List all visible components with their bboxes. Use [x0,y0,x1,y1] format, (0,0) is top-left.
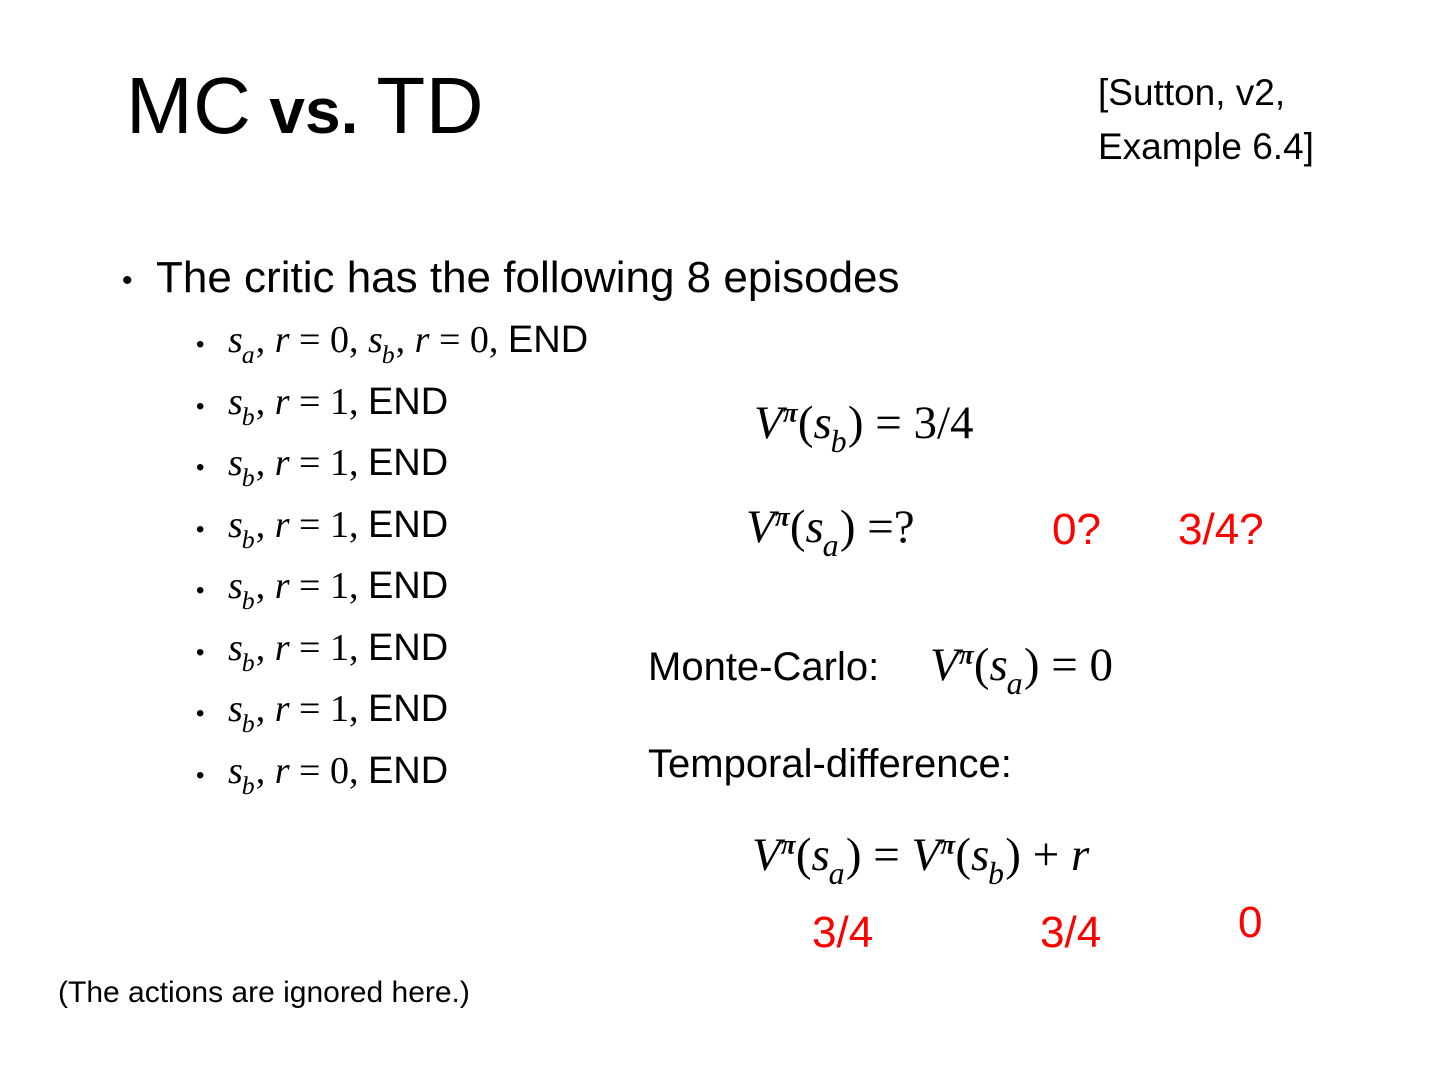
episode-text: sb, r = 1, END [228,441,448,491]
mc-arg-subscript: a [1007,666,1023,701]
episode-state: s [228,688,243,730]
td-rhs-superscript-pi: π [940,829,955,859]
episode-bullet-dot-icon: • [196,764,228,788]
episode-reward-value: 1 [330,381,349,423]
episode-state: s [228,565,243,607]
eq-vb-superscript-pi: π [783,397,798,427]
episode-terminal-label: END [368,504,448,546]
mc-relation: = [1051,639,1078,691]
episode-text: sb, r = 1, END [228,564,448,614]
episode-state-subscript: b [242,709,255,738]
episode-bullet-dot-icon: • [196,641,228,665]
episode-state-subscript: b [242,525,255,554]
eq-vb-value: 3/4 [913,397,973,449]
title-part-td: TD [376,61,484,150]
episode-item: •sb, r = 0, END [196,749,588,811]
episode-text: sb, r = 1, END [228,380,448,430]
mc-arg: s [990,639,1008,691]
episode-state: s [368,319,383,361]
episode-state-subscript: b [242,586,255,615]
episode-text: sb, r = 1, END [228,626,448,676]
td-lhs-arg-subscript: a [829,856,845,891]
eq-va-arg-subscript: a [823,528,839,563]
episode-terminal-label: END [368,627,448,669]
mc-func: V [930,639,959,691]
td-annotation-reward: 0 [1238,898,1262,948]
episode-bullet-dot-icon: • [196,518,228,542]
lead-bullet: •The critic has the following 8 episodes [122,250,900,309]
episode-reward-value: 0 [330,750,349,792]
monte-carlo-label: Monte-Carlo: [648,645,879,690]
episode-state: s [228,319,243,361]
episode-reward-symbol: r [275,627,290,669]
episode-reward-value: 1 [330,442,349,484]
episode-terminal-label: END [508,319,588,361]
episode-item: •sa, r = 0, sb, r = 0, END [196,318,588,380]
eq-vb-relation: = [875,397,902,449]
episode-state: s [228,750,243,792]
episode-reward-value: 1 [330,565,349,607]
episode-state: s [228,504,243,546]
episode-text: sb, r = 1, END [228,503,448,553]
eq-va-arg: s [806,501,824,553]
eq-va-superscript-pi: π [775,501,790,531]
episode-terminal-label: END [368,688,448,730]
episode-text: sb, r = 0, END [228,749,448,799]
td-rhs-func: V [911,829,940,881]
citation-reference: [Sutton, v2, Example 6.4] [1098,66,1398,174]
eq-vb-arg: s [814,397,832,449]
episode-item: •sb, r = 1, END [196,626,588,688]
td-plus-operator: + [1033,829,1060,881]
episode-reward-symbol: r [415,319,430,361]
episode-bullet-dot-icon: • [196,333,228,357]
td-lhs-superscript-pi: π [781,829,796,859]
episode-reward-value: 0 [470,319,489,361]
td-lhs-arg: s [812,829,830,881]
episode-terminal-label: END [368,442,448,484]
episode-list: •sa, r = 0, sb, r = 0, END•sb, r = 1, EN… [196,318,588,810]
temporal-difference-label: Temporal-difference: [648,742,1012,787]
td-annotation-rhs: 3/4 [1040,908,1101,958]
episode-reward-value: 1 [330,627,349,669]
episode-bullet-dot-icon: • [196,579,228,603]
episode-reward-value: 1 [330,688,349,730]
episode-state: s [228,381,243,423]
episode-reward-symbol: r [275,688,290,730]
lead-bullet-label: The critic has the following 8 episodes [156,253,900,302]
td-rhs-arg: s [971,829,989,881]
episode-state-subscript: a [242,340,255,369]
episode-text: sa, r = 0, sb, r = 0, END [228,318,588,368]
footnote-note: (The actions are ignored here.) [58,976,470,1010]
episode-reward-symbol: r [275,381,290,423]
episode-text: sb, r = 1, END [228,687,448,737]
td-rhs-arg-subscript: b [988,856,1004,891]
episode-item: •sb, r = 1, END [196,441,588,503]
td-annotation-lhs: 3/4 [812,908,873,958]
eq-vb-func: V [754,397,783,449]
episode-reward-value: 1 [330,504,349,546]
episode-state-subscript: b [242,648,255,677]
title-part-mc: MC [126,61,251,150]
episode-reward-value: 0 [330,319,349,361]
mc-superscript-pi: π [959,639,974,669]
episode-state-subscript: b [242,463,255,492]
td-relation: = [873,829,900,881]
episode-state: s [228,627,243,669]
bullet-dot-icon: • [122,253,156,309]
equation-temporal-difference: Vπ(sa) = Vπ(sb) + r [752,828,1089,888]
episode-state: s [228,442,243,484]
episode-state-subscript: b [242,402,255,431]
episode-state-subscript: b [242,771,255,800]
equation-monte-carlo: Vπ(sa) = 0 [930,638,1113,698]
episode-item: •sb, r = 1, END [196,564,588,626]
episode-reward-symbol: r [275,750,290,792]
eq-va-func: V [746,501,775,553]
episode-terminal-label: END [368,750,448,792]
equation-v-sb: Vπ(sb) = 3/4 [754,396,974,456]
answer-option-three-quarters: 3/4? [1178,505,1264,555]
episode-terminal-label: END [368,565,448,607]
episode-reward-symbol: r [275,319,290,361]
page-title: MCvs.TD [126,62,484,155]
answer-option-zero: 0? [1052,505,1101,555]
eq-vb-arg-subscript: b [831,424,847,459]
episode-item: •sb, r = 1, END [196,503,588,565]
episode-bullet-dot-icon: • [196,456,228,480]
episode-reward-symbol: r [275,442,290,484]
episode-bullet-dot-icon: • [196,395,228,419]
episode-item: •sb, r = 1, END [196,687,588,749]
td-reward-term: r [1071,829,1089,881]
td-lhs-func: V [752,829,781,881]
episode-terminal-label: END [368,381,448,423]
episode-state-subscript: b [382,340,395,369]
title-part-vs: vs. [269,75,358,147]
mc-value: 0 [1089,639,1113,691]
episode-reward-symbol: r [275,565,290,607]
eq-va-relation: =? [867,501,914,553]
episode-item: •sb, r = 1, END [196,380,588,442]
episode-bullet-dot-icon: • [196,702,228,726]
equation-v-sa-unknown: Vπ(sa) =? [746,500,915,560]
episode-reward-symbol: r [275,504,290,546]
